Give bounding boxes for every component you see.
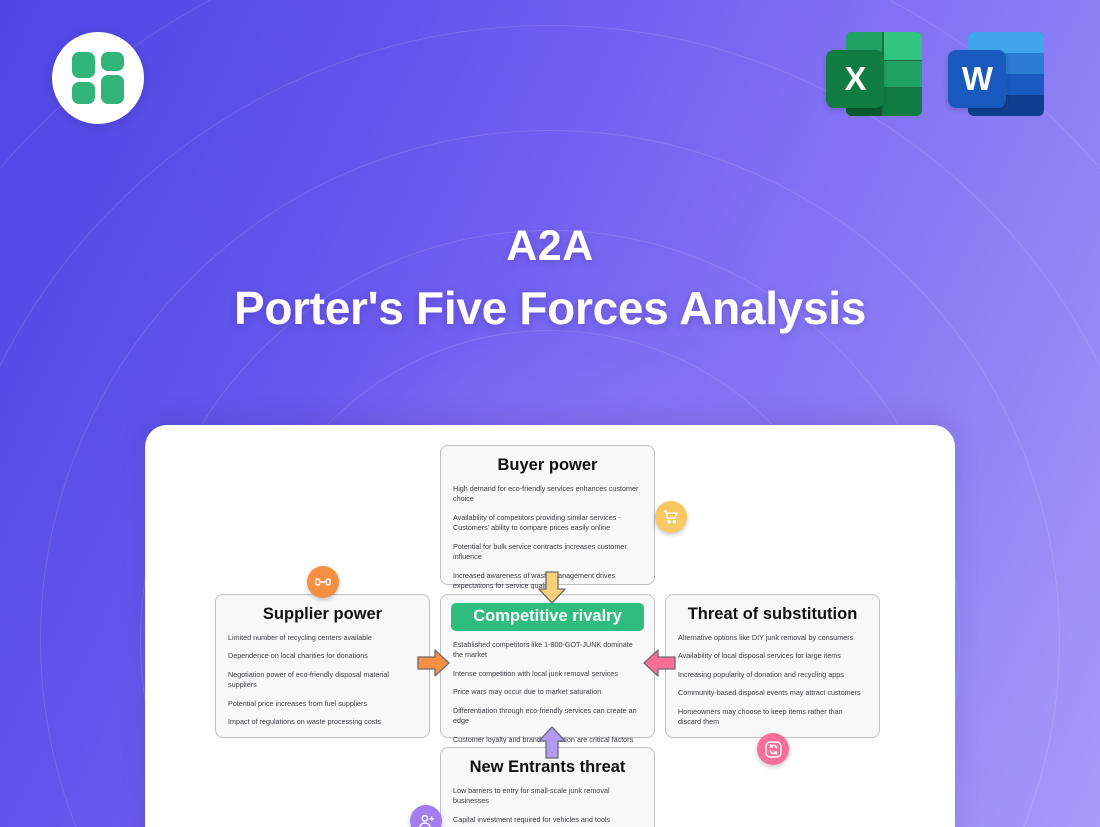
excel-icon-letter: X xyxy=(826,50,884,108)
force-title-substitution: Threat of substitution xyxy=(678,605,867,624)
force-title-entrants: New Entrants threat xyxy=(453,758,642,777)
force-box-entrants[interactable]: New Entrants threat Low barriers to entr… xyxy=(440,747,655,827)
force-point: Established competitors like 1-800-GOT-J… xyxy=(453,640,642,661)
force-title-rivalry: Competitive rivalry xyxy=(451,603,644,631)
shopping-cart-icon[interactable] xyxy=(655,501,687,533)
force-box-buyer[interactable]: Buyer power High demand for eco-friendly… xyxy=(440,445,655,585)
app-logo xyxy=(52,32,144,124)
force-point: Intense competition with local junk remo… xyxy=(453,669,642,679)
force-point: Differentiation through eco-friendly ser… xyxy=(453,706,642,727)
force-point: Community-based disposal events may attr… xyxy=(678,688,867,698)
office-export-icons: X W xyxy=(826,28,1044,120)
page-title: A2A xyxy=(0,222,1100,271)
force-point: Increasing popularity of donation and re… xyxy=(678,670,867,680)
force-point: Homeowners may choose to keep items rath… xyxy=(678,707,867,728)
force-point: Availability of competitors providing si… xyxy=(453,513,642,534)
word-icon[interactable]: W xyxy=(948,28,1044,120)
grid-logo-icon xyxy=(72,52,124,104)
force-point: Availability of local disposal services … xyxy=(678,651,867,661)
force-point: Impact of regulations on waste processin… xyxy=(228,717,417,727)
force-point: Price wars may occur due to market satur… xyxy=(453,687,642,697)
arrow-buyer-to-rivalry-icon xyxy=(537,571,567,605)
force-point: Limited number of recycling centers avai… xyxy=(228,633,417,643)
sync-icon[interactable] xyxy=(757,733,789,765)
diagram-card: Buyer power High demand for eco-friendly… xyxy=(145,425,955,827)
force-point: Capital investment required for vehicles… xyxy=(453,815,642,825)
force-title-buyer: Buyer power xyxy=(453,456,642,475)
arrow-supplier-to-rivalry-icon xyxy=(417,648,451,678)
arrow-substitution-to-rivalry-icon xyxy=(642,648,676,678)
force-point: High demand for eco-friendly services en… xyxy=(453,484,642,505)
force-point: Potential for bulk service contracts inc… xyxy=(453,542,642,563)
force-box-substitution[interactable]: Threat of substitution Alternative optio… xyxy=(665,594,880,738)
excel-icon[interactable]: X xyxy=(826,28,922,120)
add-user-icon[interactable] xyxy=(410,805,442,827)
force-title-supplier: Supplier power xyxy=(228,605,417,624)
force-point: Dependence on local charities for donati… xyxy=(228,651,417,661)
force-point: Alternative options like DIY junk remova… xyxy=(678,633,867,643)
page-subtitle: Porter's Five Forces Analysis xyxy=(0,281,1100,335)
force-box-rivalry[interactable]: Competitive rivalry Established competit… xyxy=(440,594,655,738)
word-icon-letter: W xyxy=(948,50,1006,108)
arrow-entrants-to-rivalry-icon xyxy=(537,725,567,759)
page-header: A2A Porter's Five Forces Analysis xyxy=(0,222,1100,335)
force-point: Potential price increases from fuel supp… xyxy=(228,699,417,709)
force-point: Low barriers to entry for small-scale ju… xyxy=(453,786,642,807)
link-icon[interactable] xyxy=(307,566,339,598)
force-point: Negotiation power of eco-friendly dispos… xyxy=(228,670,417,691)
slide-canvas: X W A2A Porter's Five Forces Analysis Bu… xyxy=(0,0,1100,827)
force-box-supplier[interactable]: Supplier power Limited number of recycli… xyxy=(215,594,430,738)
